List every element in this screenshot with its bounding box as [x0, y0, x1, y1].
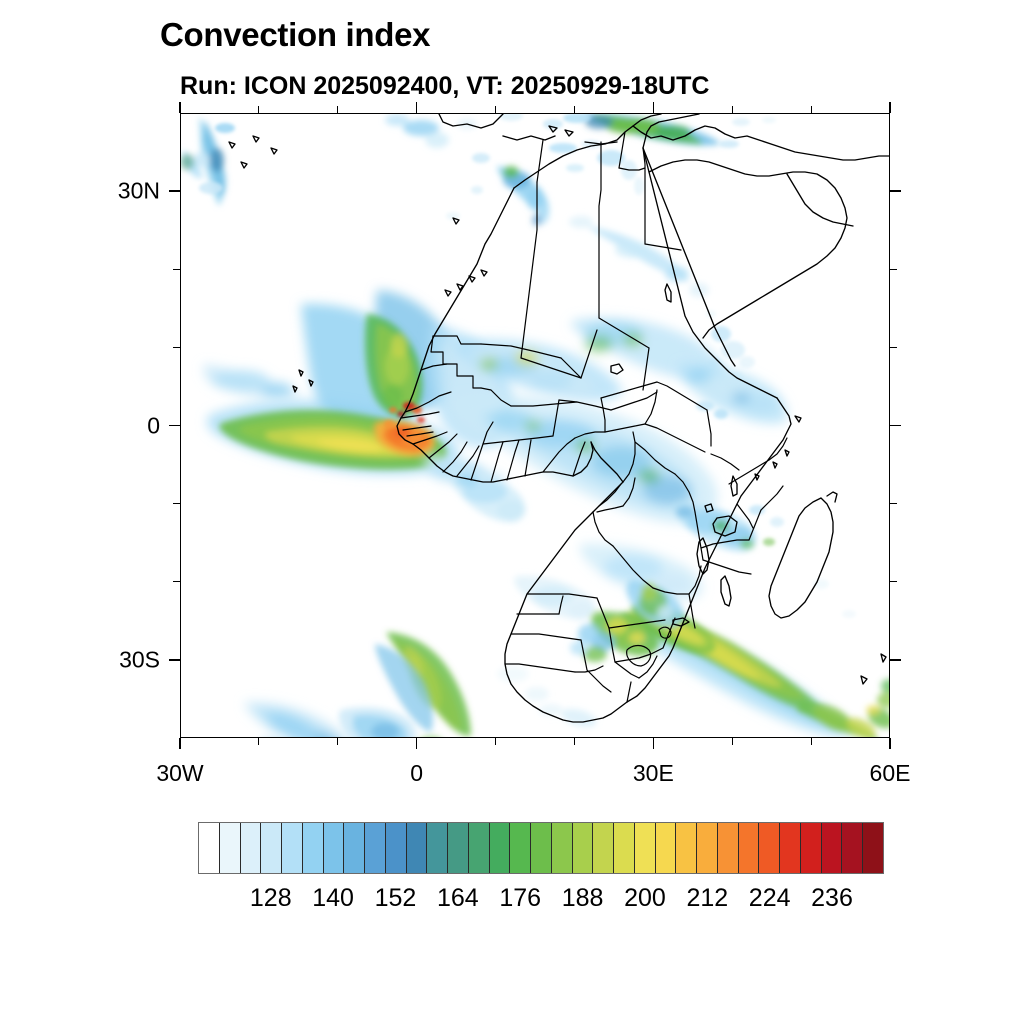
colorbar-cell — [261, 823, 282, 873]
x-tick-major — [653, 738, 654, 749]
y-tick-right-minor — [890, 347, 897, 348]
colorbar-cell — [552, 823, 573, 873]
y-axis-label: 0 — [0, 412, 160, 439]
colorbar-cell — [635, 823, 656, 873]
x-tick-minor — [337, 738, 338, 745]
convection-field — [181, 114, 890, 738]
colorbar-tick-label: 188 — [562, 884, 604, 913]
colorbar-cell — [780, 823, 801, 873]
colorbar-cell — [199, 823, 220, 873]
colorbar-cell — [593, 823, 614, 873]
map-svg — [181, 114, 890, 738]
colorbar-cell — [573, 823, 594, 873]
x-tick-top-minor — [811, 106, 812, 113]
y-tick-right-minor — [890, 581, 897, 582]
colorbar[interactable] — [198, 822, 884, 874]
x-axis-label: 30W — [156, 760, 203, 787]
x-axis-label: 0 — [410, 760, 423, 787]
colorbar-cell — [324, 823, 345, 873]
x-tick-minor — [258, 738, 259, 745]
figure-subtitle: Run: ICON 2025092400, VT: 20250929-18UTC — [180, 72, 709, 101]
y-tick-major — [169, 190, 180, 191]
colorbar-tick-label: 152 — [375, 884, 417, 913]
x-tick-major — [179, 738, 180, 749]
x-axis-label: 60E — [870, 760, 911, 787]
colorbar-tick-label: 224 — [749, 884, 791, 913]
y-tick-minor — [173, 347, 180, 348]
colorbar-cell — [241, 823, 262, 873]
colorbar-cell — [739, 823, 760, 873]
page-title: Convection index — [160, 16, 430, 54]
colorbar-cell — [863, 823, 883, 873]
x-tick-minor — [811, 738, 812, 745]
y-tick-minor — [173, 581, 180, 582]
colorbar-tick-label: 212 — [686, 884, 728, 913]
x-axis-label: 30E — [633, 760, 674, 787]
y-axis-label: 30N — [0, 178, 160, 205]
x-tick-top-minor — [258, 106, 259, 113]
y-tick-right — [890, 190, 901, 191]
x-tick-minor — [732, 738, 733, 745]
map-plot-area[interactable] — [180, 113, 890, 738]
colorbar-cell — [822, 823, 843, 873]
colorbar-cell — [407, 823, 428, 873]
colorbar-cell — [718, 823, 739, 873]
colorbar-cell — [448, 823, 469, 873]
colorbar-tick-label: 236 — [811, 884, 853, 913]
y-tick-right — [890, 425, 901, 426]
y-tick-minor — [173, 269, 180, 270]
y-tick-major — [169, 659, 180, 660]
x-tick-top-minor — [337, 106, 338, 113]
y-tick-minor — [173, 503, 180, 504]
colorbar-cell — [801, 823, 822, 873]
colorbar-cell — [676, 823, 697, 873]
y-tick-right — [890, 659, 901, 660]
colorbar-tick-label: 128 — [250, 884, 292, 913]
colorbar-cell — [282, 823, 303, 873]
y-tick-major — [169, 425, 180, 426]
colorbar-cell — [510, 823, 531, 873]
x-tick-top — [653, 102, 654, 113]
colorbar-cell — [365, 823, 386, 873]
x-tick-top-minor — [732, 106, 733, 113]
colorbar-tick-label: 200 — [624, 884, 666, 913]
x-tick-top — [179, 102, 180, 113]
colorbar-cell — [344, 823, 365, 873]
colorbar-tick-label: 140 — [312, 884, 354, 913]
x-tick-top-minor — [495, 106, 496, 113]
x-tick-major — [416, 738, 417, 749]
y-tick-right-minor — [890, 269, 897, 270]
colorbar-cell — [220, 823, 241, 873]
x-tick-top — [889, 102, 890, 113]
colorbar-tick-label: 164 — [437, 884, 479, 913]
colorbar-cell — [303, 823, 324, 873]
colorbar-cell — [469, 823, 490, 873]
colorbar-cell — [842, 823, 863, 873]
colorbar-cell — [697, 823, 718, 873]
colorbar-cell — [490, 823, 511, 873]
x-tick-top-minor — [574, 106, 575, 113]
y-tick-right-minor — [890, 503, 897, 504]
colorbar-cell — [386, 823, 407, 873]
x-tick-major — [889, 738, 890, 749]
colorbar-tick-label: 176 — [499, 884, 541, 913]
figure-canvas: Convection index Run: ICON 2025092400, V… — [0, 0, 1024, 1024]
colorbar-cell — [656, 823, 677, 873]
colorbar-cell — [531, 823, 552, 873]
colorbar-cell — [759, 823, 780, 873]
x-tick-minor — [495, 738, 496, 745]
x-tick-top — [416, 102, 417, 113]
x-tick-minor — [574, 738, 575, 745]
colorbar-cell — [614, 823, 635, 873]
colorbar-cell — [427, 823, 448, 873]
y-axis-label: 30S — [0, 646, 160, 673]
